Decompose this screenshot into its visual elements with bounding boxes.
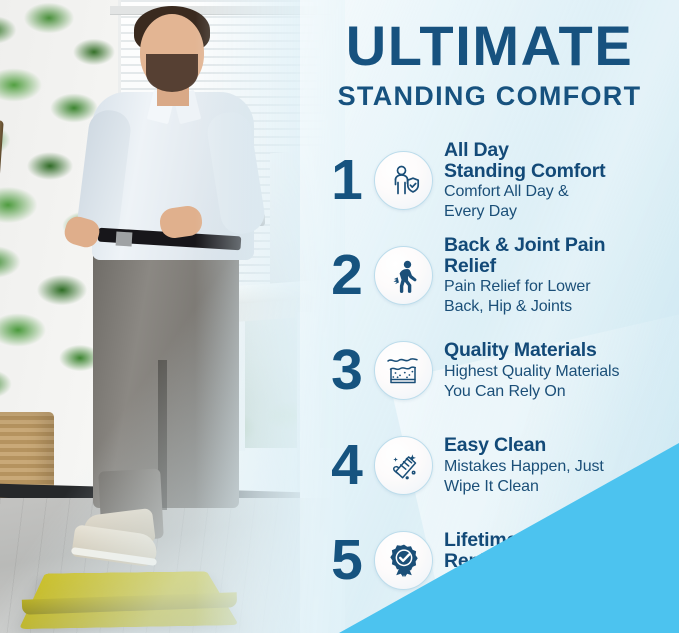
award-check-badge-icon <box>386 543 422 579</box>
benefits-panel: ULTIMATE STANDING COMFORT 1 <box>300 0 679 633</box>
benefit-icon-badge <box>374 246 433 305</box>
benefit-number: 4 <box>324 437 370 494</box>
benefit-title-line-2: Standing Comfort <box>444 161 679 181</box>
benefit-subtitle-line-1: Mistakes Happen, Just <box>444 458 679 476</box>
benefit-row-back-joint-pain-relief: 2 Back & Joint Pain Relief Pain Relief f… <box>324 228 679 323</box>
benefit-subtitle-line-1: Highest Quality Materials <box>444 363 679 381</box>
benefit-row-lifetime-replacement: 5 Lifetime Repl <box>324 513 679 608</box>
back-pain-person-icon <box>386 258 422 294</box>
benefit-subtitle-line-1: Comfort All Day & <box>444 183 679 201</box>
benefit-text-block: Lifetime Replacement We Have Got Your Ba… <box>442 530 679 591</box>
benefit-icon-badge <box>374 151 433 210</box>
benefit-title-line-2: Replacement <box>444 551 679 571</box>
benefit-number: 5 <box>324 532 370 589</box>
benefit-row-easy-clean: 4 Easy Cle <box>324 418 679 513</box>
benefit-title-line-1: Back & Joint Pain <box>444 235 679 255</box>
benefit-text-block: All Day Standing Comfort Comfort All Day… <box>442 140 679 221</box>
benefit-subtitle-line-1: Pain Relief for Lower <box>444 278 679 296</box>
benefit-title-line-1: All Day <box>444 140 679 160</box>
headline-secondary: STANDING COMFORT <box>300 83 679 110</box>
headline-primary: ULTIMATE <box>300 18 679 74</box>
page-title: ULTIMATE STANDING COMFORT <box>300 18 679 110</box>
benefit-subtitle-line-2: Every Day <box>444 203 679 221</box>
hand-wipe-sparkle-icon <box>386 448 422 484</box>
foam-layers-icon <box>385 354 422 387</box>
benefit-number: 2 <box>324 247 370 304</box>
man-belt-buckle <box>116 232 133 247</box>
person-shield-icon <box>386 163 422 199</box>
benefit-text-block: Easy Clean Mistakes Happen, Just Wipe It… <box>442 435 679 495</box>
benefit-subtitle-line-2: You Can Rely On <box>444 383 679 401</box>
benefit-subtitle-line-2: Back, Hip & Joints <box>444 298 679 316</box>
benefit-icon-badge <box>374 531 433 590</box>
benefit-number: 3 <box>324 342 370 399</box>
benefit-text-block: Back & Joint Pain Relief Pain Relief for… <box>442 235 679 316</box>
benefit-row-all-day-standing-comfort: 1 All Day Stand <box>324 133 679 228</box>
benefit-title-line-2: Relief <box>444 256 679 276</box>
benefit-icon-badge <box>374 436 433 495</box>
infographic-canvas: ULTIMATE STANDING COMFORT 1 <box>0 0 679 633</box>
benefit-title-line-1: Quality Materials <box>444 340 679 360</box>
benefit-subtitle-line-2: Wipe It Clean <box>444 478 679 496</box>
benefit-title-line-1: Easy Clean <box>444 435 679 455</box>
man-beard <box>146 54 198 92</box>
benefit-text-block: Quality Materials Highest Quality Materi… <box>442 340 679 400</box>
plant-trunk <box>0 120 4 370</box>
product-lifestyle-photo <box>0 0 345 633</box>
benefit-title-line-1: Lifetime <box>444 530 679 550</box>
benefit-subtitle-line-1: We Have Got Your Back! <box>444 573 679 591</box>
benefits-list: 1 All Day Stand <box>324 133 679 608</box>
benefit-icon-badge <box>374 341 433 400</box>
benefit-row-quality-materials: 3 <box>324 323 679 418</box>
benefit-number: 1 <box>324 152 370 209</box>
